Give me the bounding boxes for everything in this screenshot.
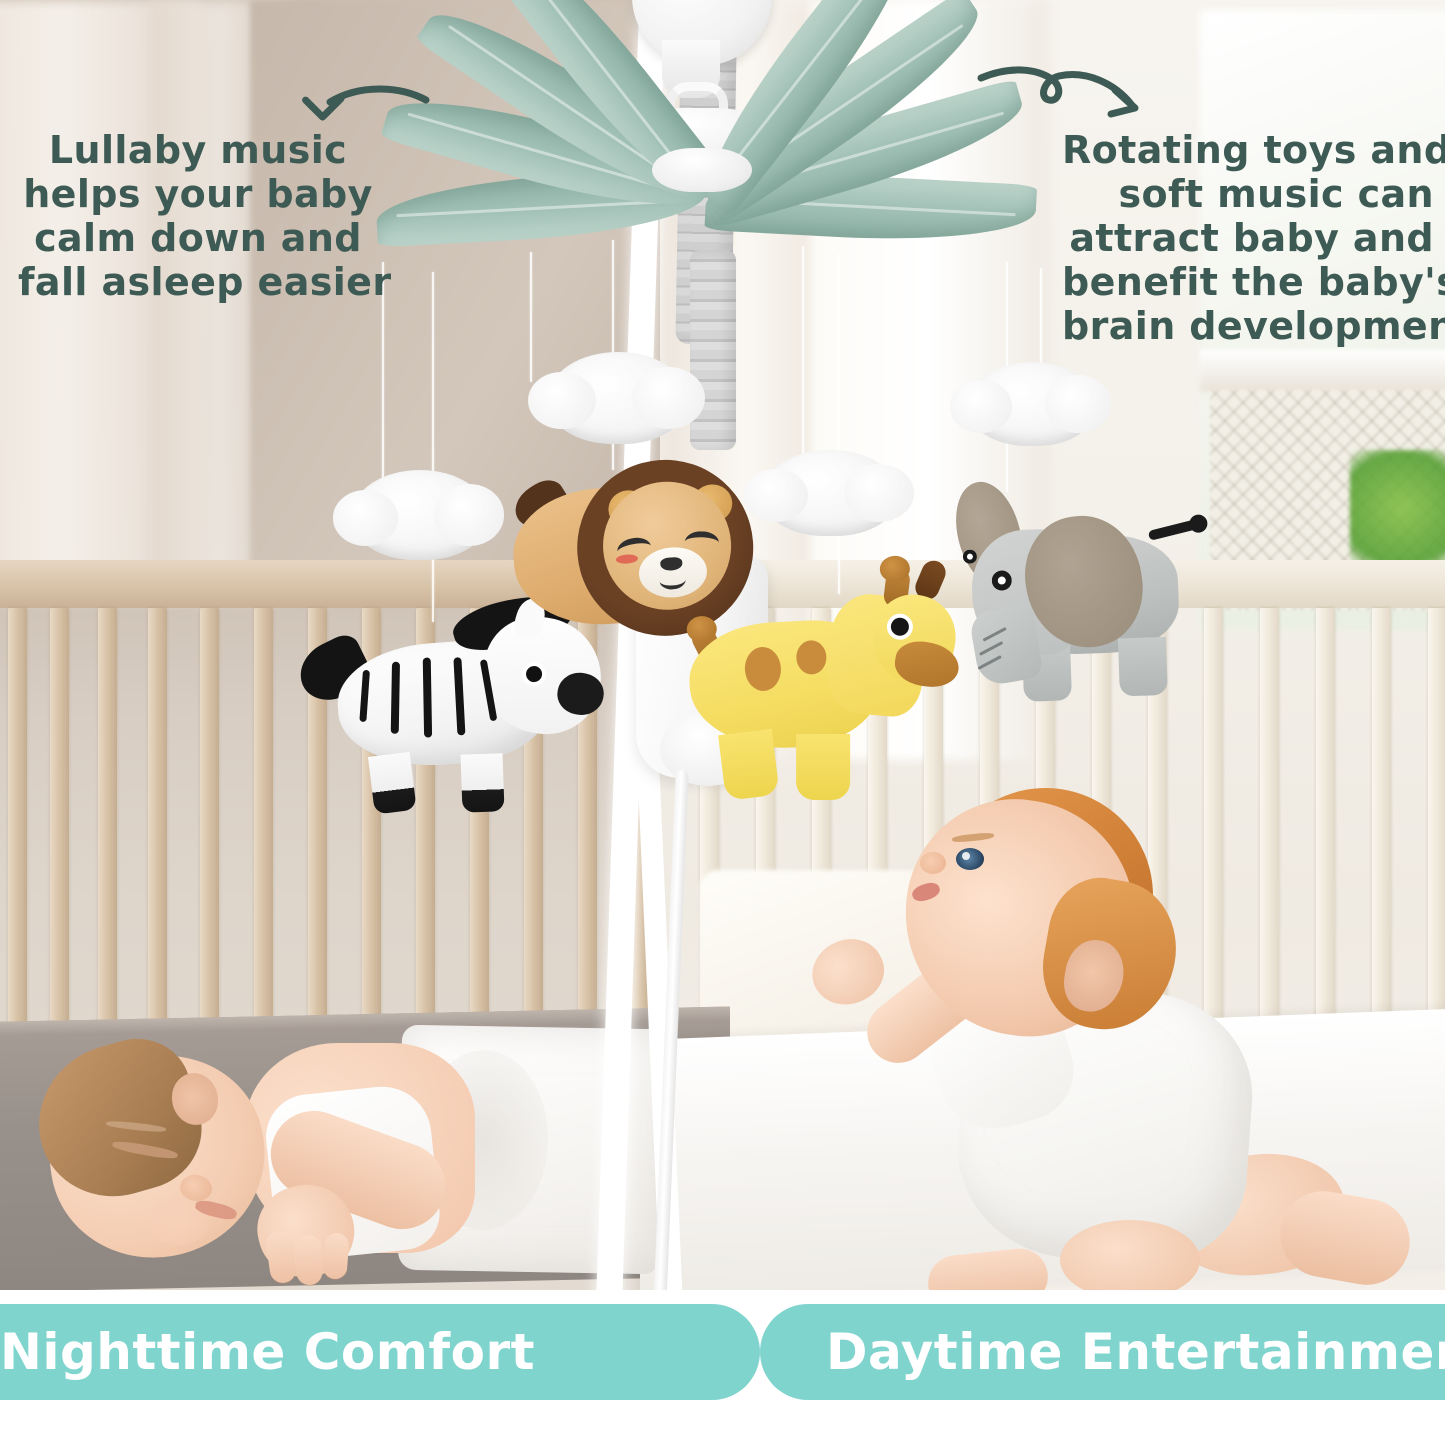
- photo-collage: Lullaby music helps your baby calm down …: [0, 0, 1445, 1290]
- caption-left-line-4: fall asleep easier: [18, 260, 378, 304]
- caption-left-line-3: calm down and: [18, 216, 378, 260]
- elephant-leg: [1118, 637, 1168, 697]
- giraffe-leg: [796, 734, 850, 800]
- bottom-banner-row: Nighttime Comfort Daytime Entertainment: [0, 1290, 1445, 1445]
- baby-foot: [925, 1246, 1050, 1290]
- plush-cloud: [968, 362, 1096, 446]
- zebra-leg: [461, 753, 505, 812]
- baby-finger: [295, 1235, 323, 1286]
- product-marketing-image: Lullaby music helps your baby calm down …: [0, 0, 1445, 1445]
- caption-right-line-1: Rotating toys and: [1062, 128, 1434, 172]
- plush-elephant: [946, 476, 1203, 695]
- baby-knee: [1060, 1220, 1200, 1290]
- banner-daytime-label: Daytime Entertainment: [826, 1323, 1445, 1381]
- hanging-string: [838, 254, 840, 594]
- giraffe-leg: [718, 729, 780, 801]
- hanging-string: [432, 272, 434, 622]
- fabric-wrapped-arm: [690, 250, 736, 450]
- caption-right: Rotating toys and soft music can attract…: [1062, 128, 1434, 348]
- awake-baby: [760, 800, 1420, 1290]
- banner-nighttime-comfort: Nighttime Comfort: [0, 1304, 760, 1400]
- caption-right-line-3: attract baby and: [1062, 216, 1434, 260]
- hanging-string: [530, 252, 532, 382]
- plush-cloud: [352, 470, 488, 560]
- caption-right-line-2: soft music can: [1062, 172, 1434, 216]
- caption-left: Lullaby music helps your baby calm down …: [18, 128, 378, 304]
- plush-giraffe: [674, 571, 965, 805]
- sleeping-baby: [20, 1035, 620, 1290]
- plush-cloud: [548, 352, 688, 444]
- baby-shin: [1274, 1184, 1417, 1290]
- elephant-tail: [1148, 518, 1203, 541]
- banner-daytime-entertainment: Daytime Entertainment: [760, 1304, 1445, 1400]
- hanging-string: [802, 246, 804, 476]
- caption-right-line-4: benefit the baby's: [1062, 260, 1434, 304]
- zebra-stripe: [423, 657, 432, 737]
- plush-cloud: [762, 450, 898, 536]
- curved-looped-arrow-down-right-icon: [975, 50, 1165, 130]
- banner-nighttime-label: Nighttime Comfort: [0, 1323, 535, 1381]
- canopy-hub: [652, 148, 752, 192]
- caption-right-line-5: brain development: [1062, 304, 1434, 348]
- baby-hand: [801, 927, 895, 1017]
- elephant-trunk: [968, 603, 1044, 687]
- caption-left-line-1: Lullaby music: [18, 128, 378, 172]
- zebra-leg: [368, 752, 417, 815]
- caption-left-line-2: helps your baby: [18, 172, 378, 216]
- baby-finger: [322, 1232, 349, 1280]
- zebra-stripe: [391, 662, 400, 734]
